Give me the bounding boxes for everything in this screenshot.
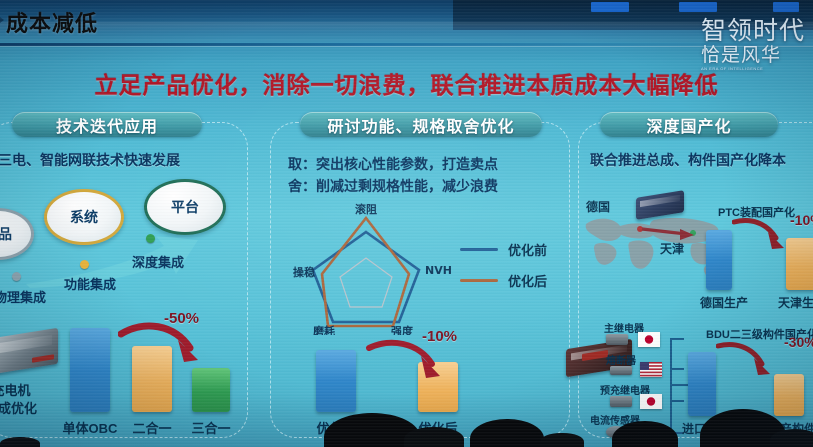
legend-label-after: 优化后	[508, 271, 547, 290]
radar-series-before	[313, 232, 419, 322]
slide-title-text: 成本减低	[6, 11, 98, 36]
bar-three-in-one	[192, 368, 230, 412]
decline-arrow-icon	[732, 216, 790, 250]
bubble-label: 系统	[70, 207, 98, 227]
legend-label-before: 优化前	[508, 240, 547, 259]
tradeoff-take-line: 取：突出核心性能参数，打造卖点	[288, 154, 498, 174]
radar-axis-label-rolling: 滚阻	[355, 202, 377, 216]
bar-label-three-in-one: 三合一	[180, 418, 242, 437]
audience-silhouette	[770, 429, 813, 447]
bar-domestic-parts	[774, 374, 804, 416]
bar-germany-production	[706, 230, 732, 290]
tree-connector-branch	[670, 368, 684, 370]
audience-silhouette	[540, 433, 584, 447]
bar-label-obc-single: 单体OBC	[58, 418, 122, 437]
precharge-relay-icon	[610, 396, 632, 407]
bar-label-tianjin-production: 天津生产	[778, 294, 813, 311]
panel-3-subtitle: 联合推进总成、构件国产化降本	[590, 150, 786, 170]
watermark-line-2-text: 恰是风华	[701, 45, 781, 66]
stage-dot-functional	[80, 260, 89, 269]
bullet-marker-icon	[0, 15, 4, 25]
audience-silhouette	[0, 437, 40, 447]
delta-label-50: -50%	[164, 310, 199, 327]
jp-flag-icon	[638, 332, 660, 347]
delta-label-ptc: -10%	[790, 212, 813, 228]
panel-1-subtitle: 三电、智能网联技术快速发展	[0, 150, 180, 170]
slide-photo: 成本减低 智领时代 恰是风华 AN ERA OF INTELLIGENCE 立足…	[0, 0, 813, 447]
radar-axis-label-wear: 磨耗	[312, 324, 335, 335]
integration-label-physical: 物理集成	[0, 287, 46, 306]
legend-swatch-before	[460, 248, 498, 251]
component-label-fuse: 熔断器	[606, 352, 636, 367]
delta-label-10: -10%	[422, 328, 457, 345]
ceiling-light-icon	[773, 2, 799, 12]
legend-swatch-after	[460, 279, 498, 282]
radar-chart: 滚阻 NVH 强度 磨耗 操稳	[276, 200, 456, 335]
bar-obc-single	[70, 328, 110, 412]
radar-axis-label-nvh: NVH	[425, 264, 452, 277]
radar-chart-svg: 滚阻 NVH 强度 磨耗 操稳	[276, 200, 456, 335]
slide-headline: 立足产品优化，消除一切浪费，联合推进本质成本大幅降低	[0, 66, 813, 100]
bubble-label: 单品	[0, 224, 12, 244]
main-relay-icon	[606, 334, 628, 345]
brand-watermark: 智领时代 恰是风华 AN ERA OF INTELLIGENCE	[701, 18, 805, 71]
tree-connector-vertical	[670, 338, 672, 434]
screen-top-band	[0, 0, 813, 42]
band-highlight	[0, 22, 813, 34]
charger-caption-line2: 集成优化	[0, 398, 50, 417]
legend-item-before: 优化前	[460, 240, 547, 259]
integration-label-functional: 功能集成	[64, 274, 116, 293]
watermark-line-1: 智领时代	[701, 18, 805, 44]
us-flag-icon	[640, 362, 662, 377]
radar-legend: 优化前 优化后	[460, 240, 547, 302]
ceiling-light-icon	[591, 2, 629, 12]
bar-before-optimization	[316, 350, 356, 412]
decline-arrow-icon	[716, 340, 776, 376]
radar-axis-label-strength: 强度	[391, 324, 414, 335]
tradeoff-give-line: 舍：削减过剩规格性能，减少浪费	[288, 176, 498, 196]
integration-label-deep: 深度集成	[132, 252, 184, 271]
bar-imported-parts	[688, 352, 716, 416]
panel-technology-iteration: 技术迭代应用 三电、智能网联技术快速发展 单品 系统 平台 物理集成 功能集成 …	[0, 112, 248, 442]
bar-label-germany-production: 德国生产	[700, 294, 748, 311]
panel-2-header: 研讨功能、规格取舍优化	[300, 112, 542, 137]
slide-title: 成本减低	[6, 6, 98, 38]
tree-connector-branch	[670, 400, 684, 402]
title-divider	[0, 43, 813, 46]
radar-axis-label-handling: 操稳	[293, 265, 315, 279]
delta-label-bdu: -30%	[784, 334, 813, 350]
bubble-platform: 平台	[144, 179, 226, 235]
bar-tianjin-production	[786, 238, 813, 290]
map-label-tianjin: 天津	[660, 240, 684, 257]
fuse-icon	[610, 366, 632, 375]
jp-flag-icon	[640, 394, 662, 409]
panel-function-spec-tradeoff: 研讨功能、规格取舍优化 取：突出核心性能参数，打造卖点 舍：削减过剩规格性能，减…	[270, 112, 570, 442]
radar-series-after	[322, 218, 409, 326]
bubble-label: 平台	[171, 197, 199, 217]
audience-silhouette	[404, 427, 464, 447]
panel-localization: 深度国产化 联合推进总成、构件国产化降本 德国 天津 PTC装配国产化	[578, 112, 813, 442]
ceiling-light-icon	[679, 2, 717, 12]
bar-label-two-in-one: 二合一	[120, 418, 184, 437]
stage-dot-deep	[146, 234, 155, 243]
tree-connector-branch	[670, 338, 684, 340]
map-label-germany: 德国	[586, 198, 610, 215]
panel-1-header: 技术迭代应用	[12, 112, 202, 137]
legend-item-after: 优化后	[460, 271, 547, 290]
stage-dot-physical	[12, 272, 21, 281]
panel-3-header: 深度国产化	[600, 112, 778, 137]
radar-grid-inner	[340, 258, 392, 307]
watermark-line-1-text: 智领时代	[701, 17, 805, 45]
charger-caption-line1: 充电机	[0, 380, 46, 399]
